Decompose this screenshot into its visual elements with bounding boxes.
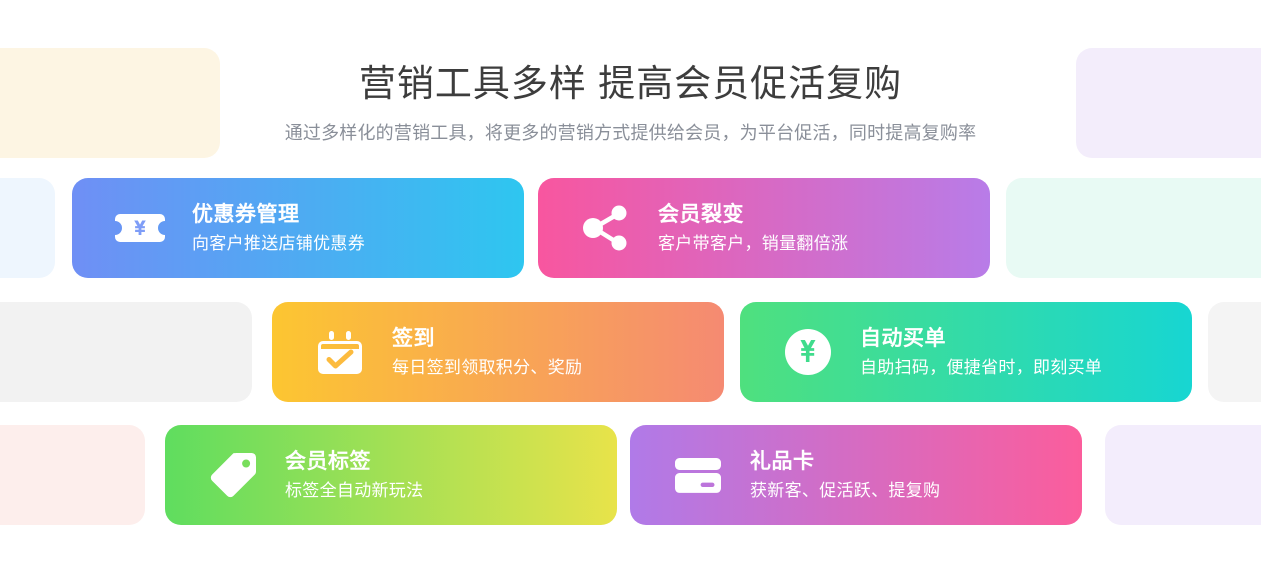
card-text-block: 签到每日签到领取积分、奖励 xyxy=(392,325,582,380)
deco-gray-row2-left xyxy=(0,302,252,402)
card-text-block: 自动买单自助扫码，便捷省时，即刻买单 xyxy=(860,325,1102,380)
deco-pink-row3-left xyxy=(0,425,145,525)
card-title: 自动买单 xyxy=(860,325,1102,353)
card-title: 会员标签 xyxy=(285,448,423,476)
card-text-block: 优惠券管理向客户推送店铺优惠券 xyxy=(192,201,365,256)
card-description: 标签全自动新玩法 xyxy=(285,478,423,503)
share-nodes-icon xyxy=(576,198,636,258)
deco-blue-row1-left xyxy=(0,178,55,278)
calendar-check-icon xyxy=(310,322,370,382)
feature-card-coupon-management[interactable]: 优惠券管理向客户推送店铺优惠券 xyxy=(72,178,524,278)
card-title: 优惠券管理 xyxy=(192,201,365,229)
feature-card-member-fission[interactable]: 会员裂变客户带客户，销量翻倍涨 xyxy=(538,178,990,278)
card-title: 礼品卡 xyxy=(750,448,940,476)
feature-card-gift-card[interactable]: 礼品卡获新客、促活跃、提复购 xyxy=(630,425,1082,525)
section-header: 营销工具多样 提高会员促活复购 通过多样化的营销工具，将更多的营销方式提供给会员… xyxy=(0,58,1261,146)
page-title: 营销工具多样 提高会员促活复购 xyxy=(0,58,1261,110)
feature-card-auto-payment[interactable]: 自动买单自助扫码，便捷省时，即刻买单 xyxy=(740,302,1192,402)
tag-icon xyxy=(203,445,263,505)
coupon-icon xyxy=(110,198,170,258)
credit-card-icon xyxy=(668,445,728,505)
deco-mint-row1-right xyxy=(1006,178,1261,278)
card-title: 签到 xyxy=(392,325,582,353)
card-text-block: 会员标签标签全自动新玩法 xyxy=(285,448,423,503)
marketing-tools-section: 营销工具多样 提高会员促活复购 通过多样化的营销工具，将更多的营销方式提供给会员… xyxy=(0,0,1261,564)
card-description: 向客户推送店铺优惠券 xyxy=(192,231,365,256)
card-text-block: 礼品卡获新客、促活跃、提复购 xyxy=(750,448,940,503)
card-description: 每日签到领取积分、奖励 xyxy=(392,355,582,380)
deco-lavender-row3-right xyxy=(1105,425,1261,525)
yuan-circle-icon xyxy=(778,322,838,382)
page-subtitle: 通过多样化的营销工具，将更多的营销方式提供给会员，为平台促活，同时提高复购率 xyxy=(0,120,1261,146)
feature-card-member-tags[interactable]: 会员标签标签全自动新玩法 xyxy=(165,425,617,525)
feature-card-check-in[interactable]: 签到每日签到领取积分、奖励 xyxy=(272,302,724,402)
card-description: 客户带客户，销量翻倍涨 xyxy=(658,231,848,256)
card-description: 自助扫码，便捷省时，即刻买单 xyxy=(860,355,1102,380)
card-text-block: 会员裂变客户带客户，销量翻倍涨 xyxy=(658,201,848,256)
deco-gray-row2-right xyxy=(1208,302,1261,402)
card-description: 获新客、促活跃、提复购 xyxy=(750,478,940,503)
card-title: 会员裂变 xyxy=(658,201,848,229)
